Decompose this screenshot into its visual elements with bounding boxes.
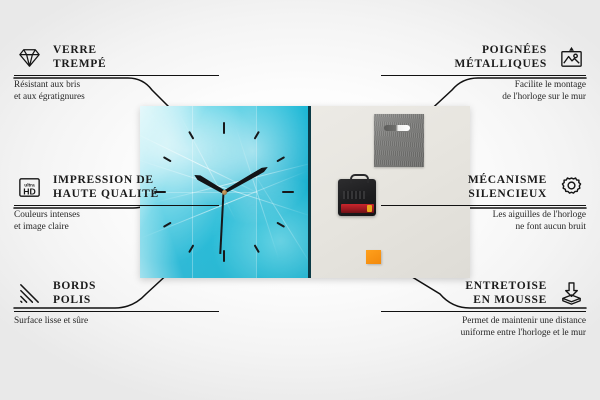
feature-header: VERRE TREMPÉ <box>14 42 219 72</box>
picture-hanger-icon <box>556 42 586 72</box>
feature-header: ENTRETOISE EN MOUSSE <box>381 278 586 308</box>
ultra-hd-icon: ultra HD <box>14 172 44 202</box>
feature-divider <box>381 75 586 76</box>
feature-verre-trempe: VERRE TREMPÉ Résistant aux bris et aux é… <box>14 42 219 104</box>
feature-bords-polis: BORDS POLIS Surface lisse et sûre <box>14 278 219 327</box>
hanger-keyhole-slot <box>384 125 410 131</box>
diamond-icon <box>14 42 44 72</box>
feature-header: BORDS POLIS <box>14 278 219 308</box>
feature-impression-haute-qualite: ultra HD IMPRESSION DE HAUTE QUALITÉ Cou… <box>14 172 219 234</box>
clock-tick <box>223 122 225 192</box>
mechanism-hanging-loop <box>350 174 369 183</box>
feature-poignees-metalliques: POIGNÉES MÉTALLIQUES Facilite le montage… <box>381 42 586 104</box>
feature-header: POIGNÉES MÉTALLIQUES <box>381 42 586 72</box>
feature-title: IMPRESSION DE HAUTE QUALITÉ <box>53 173 159 201</box>
feature-title: POIGNÉES MÉTALLIQUES <box>455 43 547 71</box>
polished-edge-icon <box>14 278 44 308</box>
feature-mecanisme-silencieux: MÉCANISME SILENCIEUX Les aiguilles de l'… <box>381 172 586 234</box>
feature-title: VERRE TREMPÉ <box>53 43 106 71</box>
feature-description: Couleurs intenses et image claire <box>14 209 219 234</box>
feature-title: BORDS POLIS <box>53 279 96 307</box>
feature-divider <box>14 311 219 312</box>
feature-header: ultra HD IMPRESSION DE HAUTE QUALITÉ <box>14 172 219 202</box>
feature-header: MÉCANISME SILENCIEUX <box>381 172 586 202</box>
clock-mechanism-box <box>338 179 376 216</box>
feature-title: ENTRETOISE EN MOUSSE <box>465 279 547 307</box>
battery-terminal <box>367 205 372 212</box>
feature-entretoise-en-mousse: ENTRETOISE EN MOUSSE Permet de maintenir… <box>381 278 586 340</box>
feature-divider <box>381 311 586 312</box>
press-down-icon <box>556 278 586 308</box>
gear-icon <box>556 172 586 202</box>
clock-tick <box>224 191 294 193</box>
foam-spacer <box>366 250 381 264</box>
feature-divider <box>14 75 219 76</box>
mechanism-vent <box>343 191 365 199</box>
feature-description: Permet de maintenir une distance uniform… <box>381 315 586 340</box>
battery <box>341 204 374 213</box>
feature-title: MÉCANISME SILENCIEUX <box>468 173 547 201</box>
feature-description: Les aiguilles de l'horloge ne font aucun… <box>381 209 586 234</box>
feature-divider <box>14 205 219 206</box>
ultra-hd-icon-bottom: HD <box>23 186 36 196</box>
feature-divider <box>381 205 586 206</box>
clock-center-cap <box>222 190 227 195</box>
feature-description: Résistant aux bris et aux égratignures <box>14 79 219 104</box>
feature-description: Surface lisse et sûre <box>14 315 219 327</box>
metal-hanger-plate <box>374 114 424 167</box>
infographic-canvas: VERRE TREMPÉ Résistant aux bris et aux é… <box>0 0 600 400</box>
feature-description: Facilite le montage de l'horloge sur le … <box>381 79 586 104</box>
